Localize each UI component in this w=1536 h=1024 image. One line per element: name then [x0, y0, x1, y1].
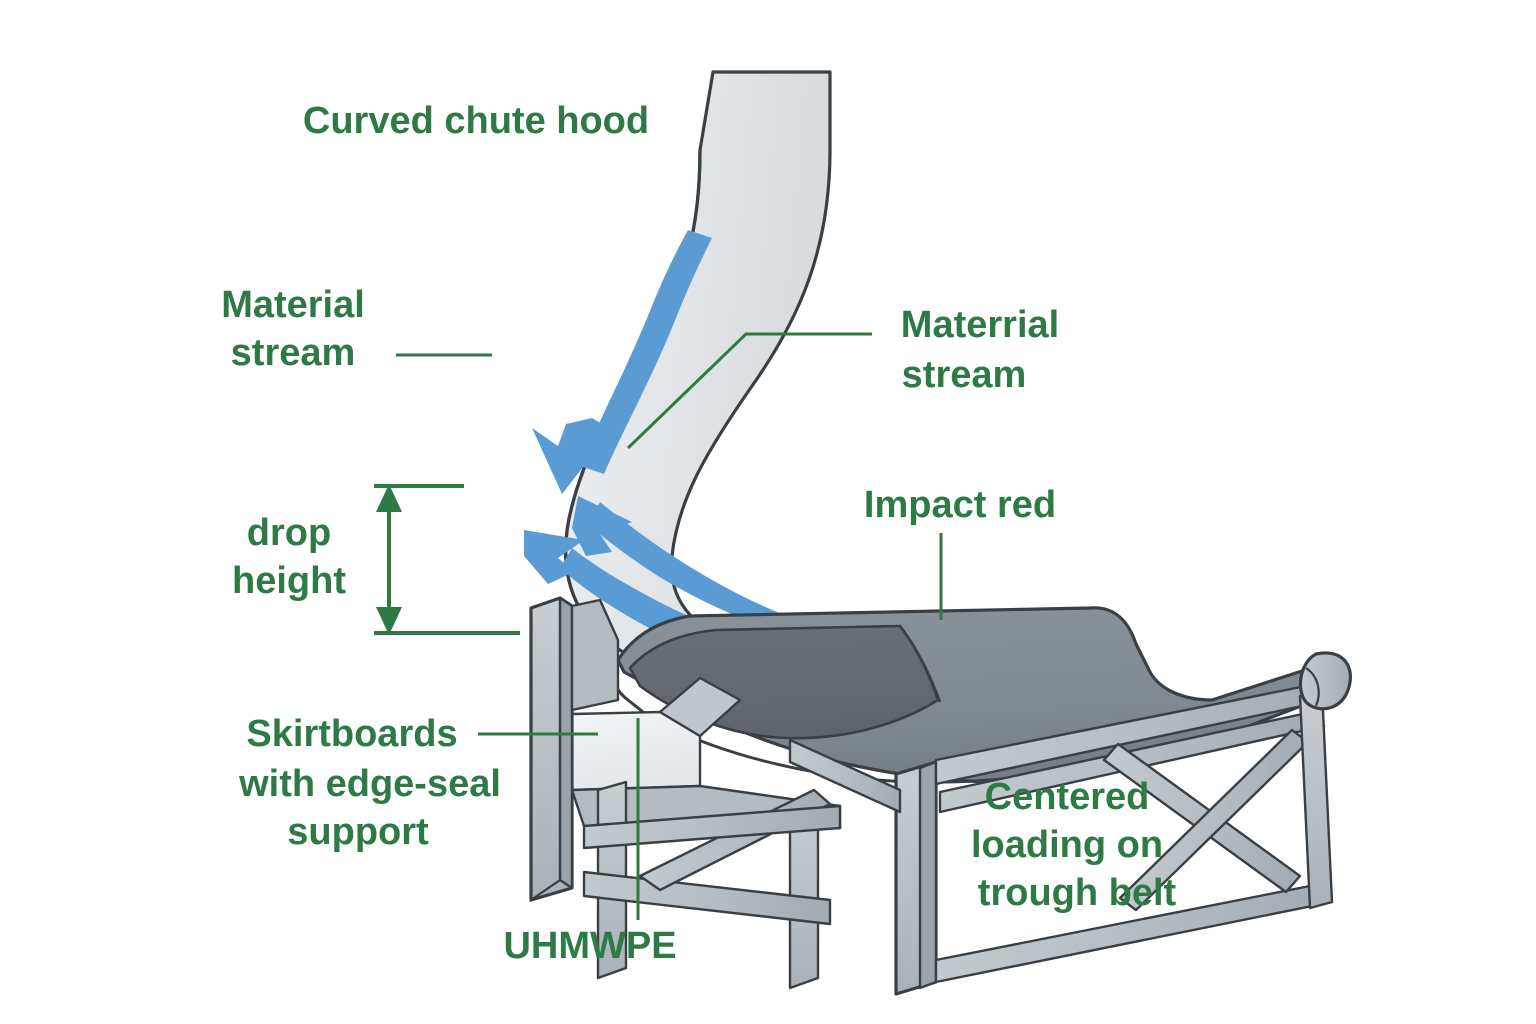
- label-skirtboards-line2: with edge-seal: [238, 763, 501, 805]
- label-centered-loading-line1: Centered: [985, 776, 1150, 818]
- label-material-stream-right-line1: Materrial: [901, 304, 1059, 346]
- label-material-stream-right-line2: stream: [902, 354, 1027, 396]
- frame-post-right: [1300, 690, 1332, 908]
- label-curved-chute-hood: Curved chute hood: [303, 100, 649, 142]
- label-centered-loading-line2: loading on: [971, 824, 1163, 866]
- frame-leg-center-side: [920, 762, 936, 988]
- curved-chute-hood: [566, 72, 838, 700]
- label-material-stream-left-line2: stream: [231, 332, 356, 374]
- label-material-stream-left-line1: Material: [221, 284, 365, 326]
- label-skirtboards-line3: support: [287, 811, 429, 853]
- transfer-chute-diagram: Curved chute hood Material stream Materr…: [0, 0, 1536, 1024]
- diagram-canvas: Curved chute hood Material stream Materr…: [0, 0, 1536, 1024]
- skirtboard-column-side: [560, 598, 572, 888]
- label-uhmwpe: UHMWPE: [503, 925, 676, 967]
- chute-hood-body: [566, 72, 830, 700]
- label-drop-height-line2: height: [232, 560, 346, 602]
- drop-height-dimension: [374, 484, 520, 635]
- end-pulley: [1300, 653, 1350, 709]
- label-centered-loading-line3: trough belt: [978, 872, 1177, 914]
- label-drop-height-line1: drop: [247, 512, 331, 554]
- label-impact-red: Impact red: [864, 484, 1056, 526]
- dim-arrowhead-bottom: [376, 607, 402, 635]
- dim-arrowhead-top: [376, 484, 402, 512]
- label-skirtboards-line1: Skirtboards: [246, 713, 457, 755]
